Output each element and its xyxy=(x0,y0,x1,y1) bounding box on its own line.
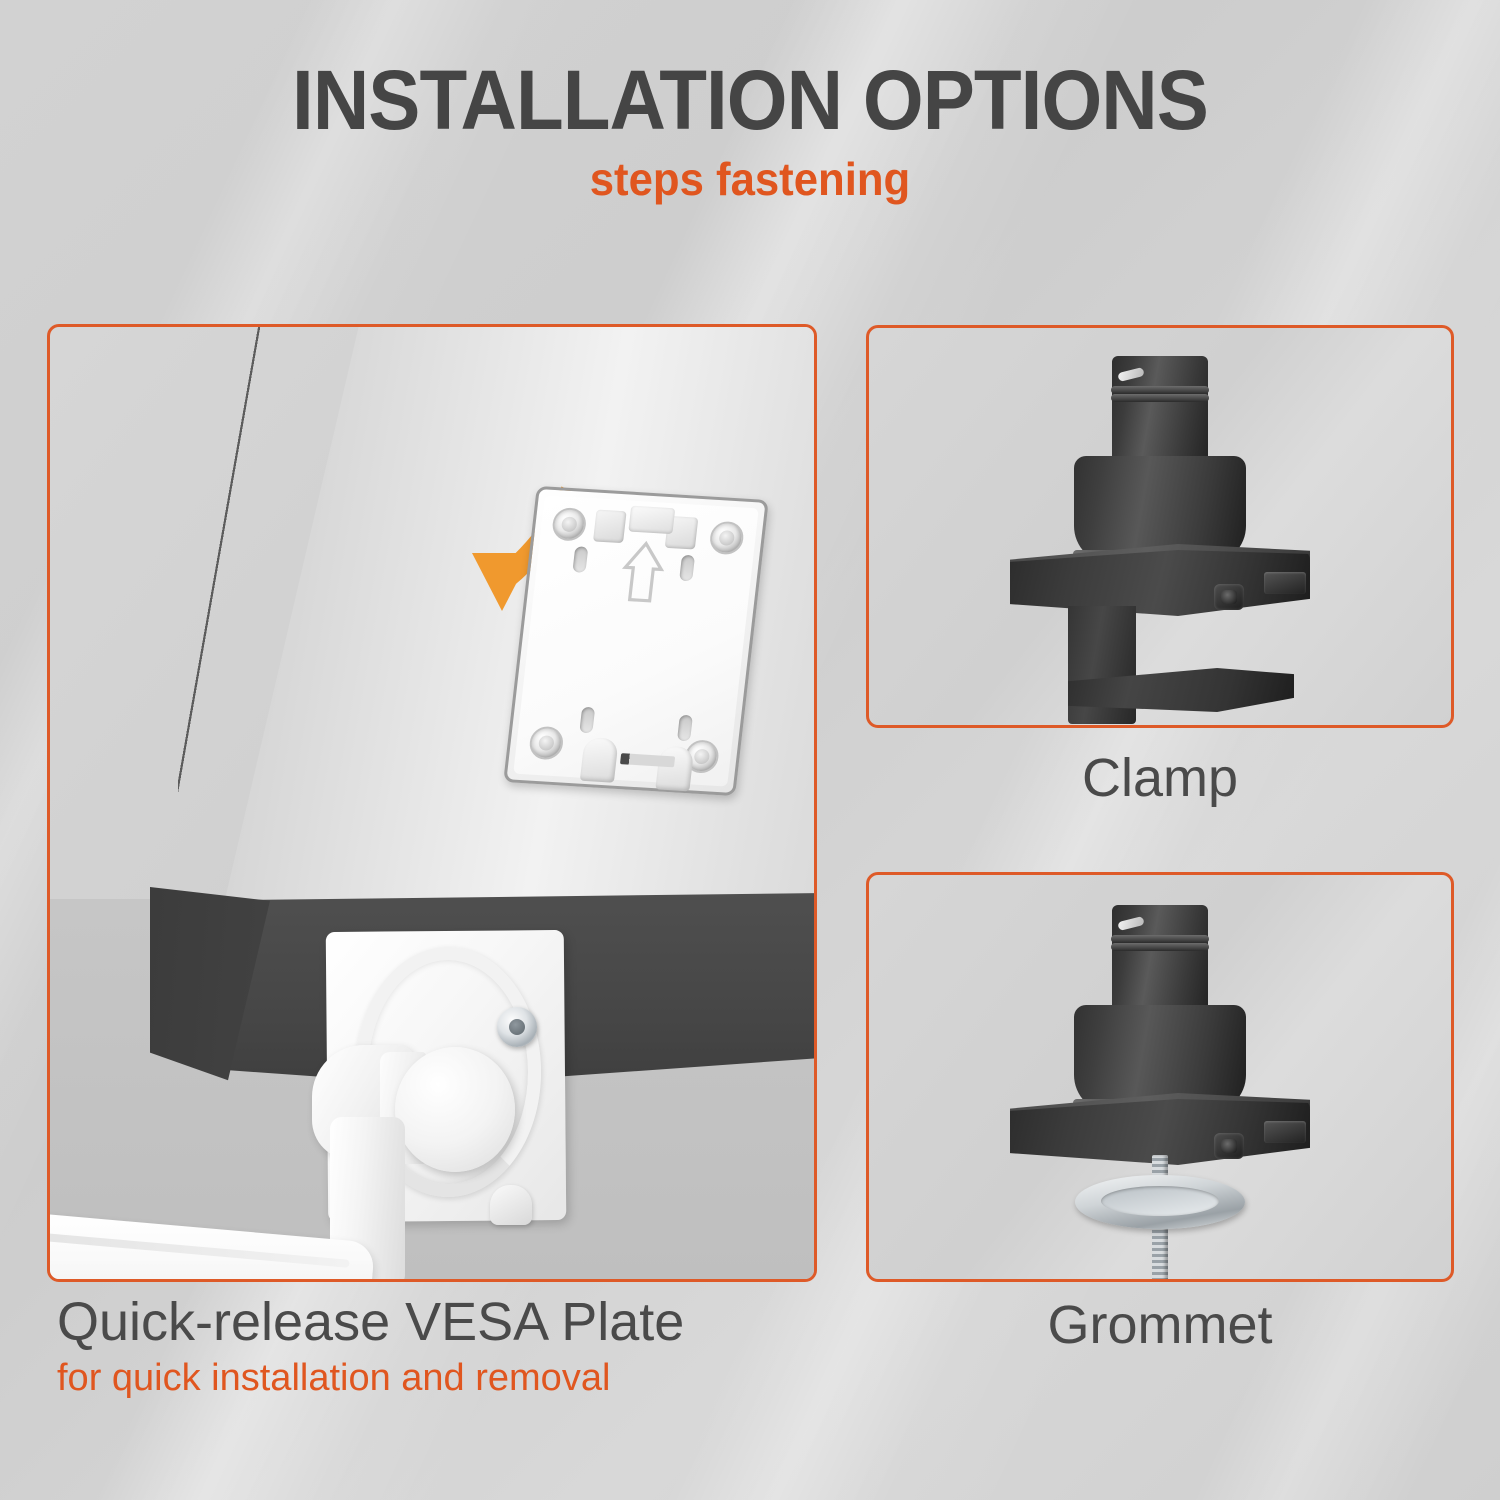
caption-clamp: Clamp xyxy=(866,748,1454,808)
panel-grommet-mount xyxy=(866,872,1454,1282)
caption-vesa-subtitle: for quick installation and removal xyxy=(57,1356,817,1402)
grommet-mount-assembly xyxy=(869,875,1451,1279)
grommet-base-slot xyxy=(1264,1121,1306,1143)
vesa-illustration xyxy=(50,327,814,1279)
vesa-release-latch xyxy=(628,506,675,535)
caption-vesa-plate: Quick-release VESA Plate for quick insta… xyxy=(47,1292,817,1402)
grommet-adjust-button xyxy=(1214,1133,1244,1159)
clamp-base-slot xyxy=(1264,572,1306,594)
clamp-post-ring-upper xyxy=(1111,386,1209,394)
clamp-mount-assembly xyxy=(869,328,1451,725)
vesa-foot-right xyxy=(655,746,694,792)
caption-clamp-title: Clamp xyxy=(866,748,1454,808)
panel-vesa-plate xyxy=(47,324,817,1282)
caption-vesa-title: Quick-release VESA Plate xyxy=(57,1292,817,1352)
infographic-page: INSTALLATION OPTIONS steps fastening xyxy=(0,0,1500,1500)
grommet-post-ring-upper xyxy=(1111,935,1209,943)
page-title: INSTALLATION OPTIONS xyxy=(53,58,1448,144)
grommet-washer-plate xyxy=(1075,1175,1245,1229)
page-subtitle: steps fastening xyxy=(38,152,1463,206)
vesa-foot-left xyxy=(580,737,619,783)
clamp-post-ring-lower xyxy=(1111,394,1209,402)
grommet-illustration xyxy=(869,875,1451,1279)
arm-tilt-hub xyxy=(395,1047,515,1172)
caption-grommet-title: Grommet xyxy=(866,1295,1454,1355)
header: INSTALLATION OPTIONS steps fastening xyxy=(0,58,1500,206)
clamp-adjust-button xyxy=(1214,584,1244,610)
vesa-tab-left xyxy=(593,510,627,544)
caption-grommet: Grommet xyxy=(866,1295,1454,1355)
quick-release-vesa-plate xyxy=(503,486,769,796)
panel-clamp-mount xyxy=(866,325,1454,728)
clamp-illustration xyxy=(869,328,1451,725)
grommet-post-ring-lower xyxy=(1111,943,1209,951)
arm-locking-nub xyxy=(490,1185,532,1225)
arm-thumbscrew xyxy=(497,1007,537,1047)
vesa-up-arrow-icon xyxy=(616,539,669,605)
